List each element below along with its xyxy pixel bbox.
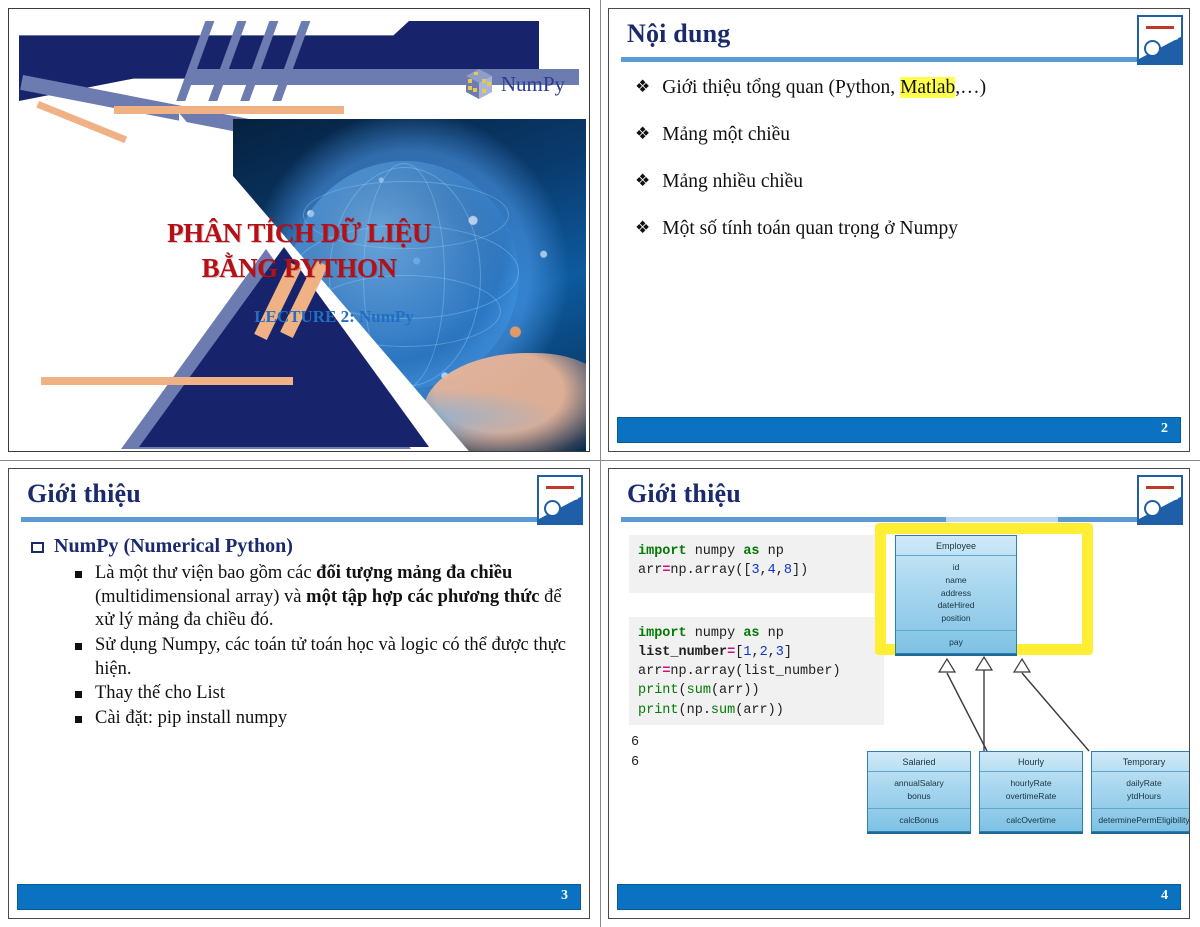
bullet-text: Giới thiệu tổng quan (Python, [662,77,900,98]
diagonal-stripes [159,21,419,101]
slide-title: Giới thiệu [27,479,141,509]
uml-attributes: annualSalary bonus [868,772,970,809]
slide-deck-page: NumPy PHÂN TÍCH DỮ LIỆU BẰNG PYTHON LECT… [0,0,1200,927]
slide-header: Nội dung [609,9,1189,65]
uml-operation: determinePermEligibility [1094,815,1190,825]
title-line-2: BẰNG PYTHON [9,251,589,286]
uml-attribute: bonus [870,790,968,803]
bullet-text-tail: ,…) [955,77,986,98]
title-line-1: PHÂN TÍCH DỮ LIỆU [167,218,431,248]
highlighted-term: Matlab [900,77,955,98]
slide-footer-bar: 2 [617,417,1181,443]
uml-attribute: name [898,574,1014,587]
institution-logo-icon [1137,475,1183,525]
uml-class-salaried: Salaried annualSalary bonus calcBonus [867,751,971,832]
uml-attributes: id name address dateHired position [896,556,1016,631]
list-item: Cài đặt: pip install numpy [73,707,571,731]
bullet-list: ❖ Giới thiệu tổng quan (Python, Matlab,…… [635,77,1169,265]
horizontal-divider [0,460,1200,461]
slide-cell-3: Giới thiệu NumPy (Numerical Python) Là m… [0,460,600,927]
institution-logo-icon [1137,15,1183,65]
list-item: ❖ Một số tính toán quan trọng ở Numpy [635,218,1169,240]
list-item: Sử dụng Numpy, các toán tử toán học và l… [73,634,571,681]
slide-footer-bar: 4 [617,884,1181,910]
list-item: ❖ Giới thiệu tổng quan (Python, Matlab,…… [635,77,1169,99]
uml-class-temporary: Temporary dailyRate ytdHours determinePe… [1091,751,1190,832]
uml-attribute: dailyRate [1094,777,1190,790]
bullet-text: Mảng nhiều chiều [662,171,803,193]
list-item: ❖ Mảng nhiều chiều [635,171,1169,193]
vertical-divider [600,0,601,927]
diamond-bullet-icon: ❖ [635,218,650,238]
content-slide[interactable]: Giới thiệu import numpy as np arr=np.arr… [608,468,1190,919]
code-block-1: import numpy as np arr=np.array([3,4,8]) [629,535,884,593]
institution-logo-icon [537,475,583,525]
diamond-bullet-icon: ❖ [635,77,650,97]
uml-attribute: overtimeRate [982,790,1080,803]
uml-class-name: Salaried [868,752,970,772]
uml-class-diagram: Employee id name address dateHired posit… [867,519,1190,869]
section-heading-text: NumPy (Numerical Python) [54,535,293,558]
title-slide[interactable]: NumPy PHÂN TÍCH DỮ LIỆU BẰNG PYTHON LECT… [8,8,590,452]
uml-attribute: position [898,612,1014,625]
uml-class-name: Temporary [1092,752,1190,772]
uml-attribute: address [898,587,1014,600]
uml-operations: calcBonus [868,809,970,831]
uml-operation: calcBonus [870,815,968,825]
code-block-2: import numpy as np list_number=[1,2,3] a… [629,617,884,725]
uml-operation: calcOvertime [982,815,1080,825]
header-rule [621,57,1181,62]
uml-class-employee: Employee id name address dateHired posit… [895,535,1017,654]
uml-attribute: id [898,561,1014,574]
sub-bullet-list: Là một thư viện bao gồm các đối tượng mả… [73,562,571,731]
slide-header: Giới thiệu [609,469,1189,525]
numpy-logo-text: NumPy [501,72,565,97]
uml-attributes: hourlyRate overtimeRate [980,772,1082,809]
uml-class-name: Employee [896,536,1016,556]
peach-bar-bottom [41,377,293,385]
code-output: 6 6 [631,733,639,772]
uml-class-hourly: Hourly hourlyRate overtimeRate calcOvert… [979,751,1083,832]
slide-footer-bar: 3 [17,884,581,910]
uml-class-name: Hourly [980,752,1082,772]
bullet-text: Một số tính toán quan trọng ở Numpy [662,218,958,240]
numpy-cube-icon [463,67,495,101]
section-heading: NumPy (Numerical Python) [31,535,571,558]
uml-operations: calcOvertime [980,809,1082,831]
page-number: 2 [1161,421,1168,437]
diamond-bullet-icon: ❖ [635,171,650,191]
uml-operation: pay [898,637,1014,647]
uml-attribute: annualSalary [870,777,968,790]
list-item: Thay thế cho List [73,682,571,706]
content-slide[interactable]: Nội dung ❖ Giới thiệu tổng quan (Python,… [608,8,1190,452]
slide-cell-1: NumPy PHÂN TÍCH DỮ LIỆU BẰNG PYTHON LECT… [0,0,600,460]
numpy-logo: NumPy [463,67,565,101]
slide-title: Giới thiệu [627,479,741,509]
slide-cell-2: Nội dung ❖ Giới thiệu tổng quan (Python,… [600,0,1200,460]
slide-cell-4: Giới thiệu import numpy as np arr=np.arr… [600,460,1200,927]
page-number: 3 [561,888,568,904]
content-slide[interactable]: Giới thiệu NumPy (Numerical Python) Là m… [8,468,590,919]
list-item: ❖ Mảng một chiều [635,124,1169,146]
content-body: NumPy (Numerical Python) Là một thư viện… [31,535,571,732]
peach-bar-top [114,106,344,114]
bullet-text: Mảng một chiều [662,124,790,146]
uml-attribute: ytdHours [1094,790,1190,803]
slide-title: Nội dung [627,19,730,49]
square-bullet-icon [31,542,44,553]
diamond-bullet-icon: ❖ [635,124,650,144]
uml-attributes: dailyRate ytdHours [1092,772,1190,809]
page-title: PHÂN TÍCH DỮ LIỆU BẰNG PYTHON [9,216,589,285]
uml-operations: pay [896,631,1016,653]
page-number: 4 [1161,888,1168,904]
page-subtitle: LECTURE 2: NumPy [9,307,589,327]
list-item: Là một thư viện bao gồm các đối tượng mả… [73,562,571,633]
uml-attribute: dateHired [898,599,1014,612]
uml-attribute: hourlyRate [982,777,1080,790]
header-rule [21,517,581,522]
uml-operations: determinePermEligibility [1092,809,1190,831]
slide-header: Giới thiệu [9,469,589,525]
